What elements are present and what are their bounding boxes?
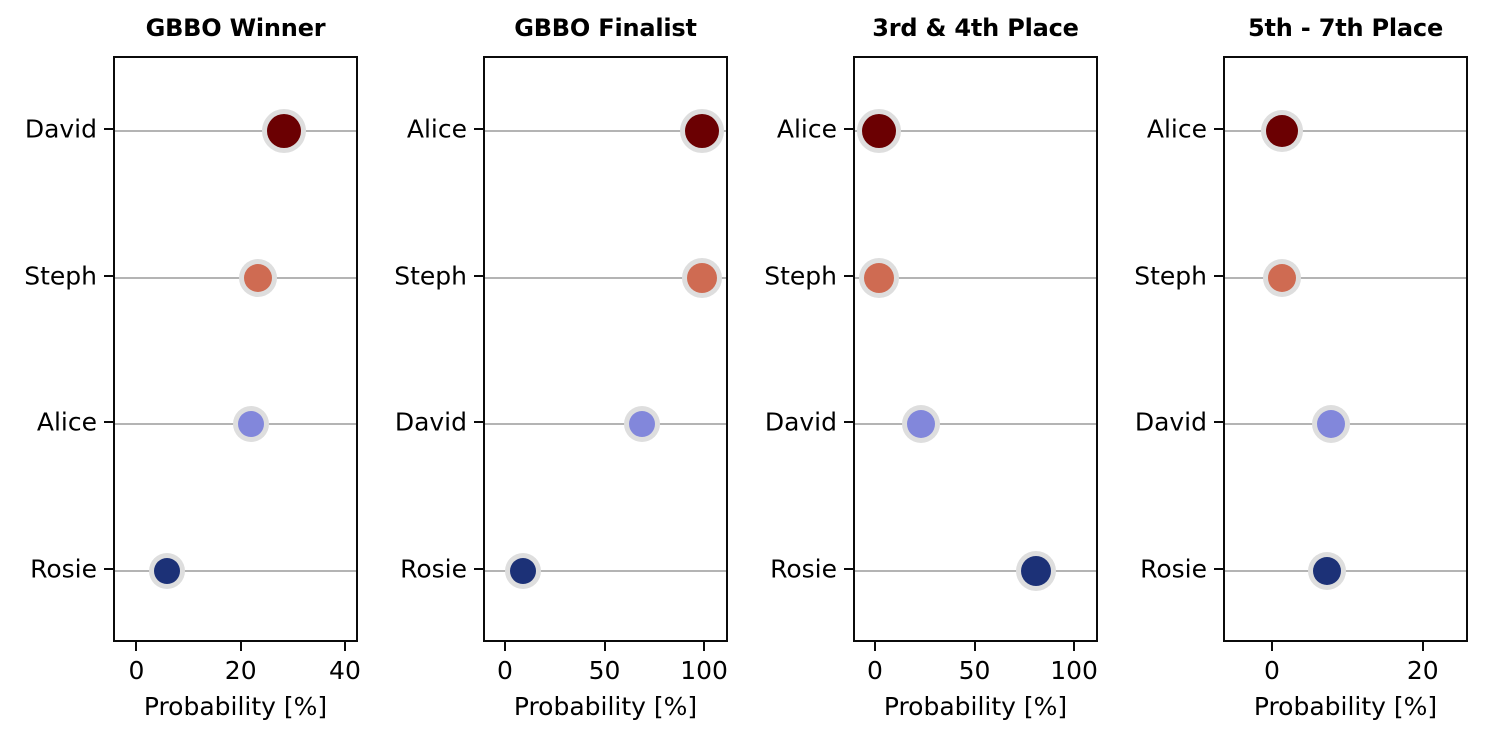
chart-panel: GBBO FinalistAliceStephDavidRosie050100P… bbox=[370, 0, 745, 750]
y-tick-label: David bbox=[395, 408, 467, 437]
gridline bbox=[485, 423, 726, 425]
data-point-marker bbox=[1313, 557, 1341, 585]
x-tick-label: 0 bbox=[867, 656, 883, 685]
plot-area bbox=[483, 56, 728, 642]
chart-panel: 3rd & 4th PlaceAliceStephDavidRosie05010… bbox=[740, 0, 1115, 750]
x-tick-mark bbox=[1271, 642, 1273, 651]
panel-title: GBBO Finalist bbox=[483, 14, 728, 42]
y-tick-label: Steph bbox=[764, 261, 837, 290]
x-tick-mark bbox=[703, 642, 705, 651]
y-tick-mark bbox=[474, 421, 483, 423]
plot-area bbox=[1223, 56, 1468, 642]
y-tick-label: David bbox=[25, 115, 97, 144]
y-tick-mark bbox=[1214, 128, 1223, 130]
y-tick-mark bbox=[844, 275, 853, 277]
y-tick-mark bbox=[474, 128, 483, 130]
x-tick-label: 50 bbox=[589, 656, 621, 685]
x-tick-mark bbox=[240, 642, 242, 651]
data-point-marker bbox=[238, 411, 264, 437]
gridline bbox=[1225, 277, 1466, 279]
data-point-marker bbox=[1268, 264, 1296, 292]
plot-area bbox=[853, 56, 1098, 642]
data-point-marker bbox=[907, 410, 935, 438]
y-tick-mark bbox=[1214, 421, 1223, 423]
y-tick-mark bbox=[1214, 568, 1223, 570]
data-point-marker bbox=[1317, 410, 1345, 438]
x-tick-label: 20 bbox=[1407, 656, 1439, 685]
y-tick-label: Alice bbox=[37, 408, 97, 437]
y-tick-mark bbox=[844, 421, 853, 423]
x-tick-mark bbox=[874, 642, 876, 651]
y-tick-label: David bbox=[765, 408, 837, 437]
x-tick-label: 50 bbox=[959, 656, 991, 685]
y-tick-label: Rosie bbox=[770, 554, 837, 583]
x-tick-mark bbox=[1422, 642, 1424, 651]
panel-title: 5th - 7th Place bbox=[1223, 14, 1468, 42]
data-point-marker bbox=[510, 558, 536, 584]
y-tick-label: Steph bbox=[24, 261, 97, 290]
x-axis-label: Probability [%] bbox=[483, 692, 728, 721]
chart-panel: 5th - 7th PlaceAliceStephDavidRosie020Pr… bbox=[1110, 0, 1485, 750]
data-point-marker bbox=[685, 114, 719, 148]
data-point-marker bbox=[154, 558, 180, 584]
y-tick-mark bbox=[104, 568, 113, 570]
x-tick-mark bbox=[135, 642, 137, 651]
y-tick-mark bbox=[474, 275, 483, 277]
x-tick-label: 0 bbox=[129, 656, 145, 685]
x-tick-label: 20 bbox=[225, 656, 257, 685]
gridline bbox=[115, 423, 356, 425]
gridline bbox=[115, 277, 356, 279]
gridline bbox=[855, 570, 1096, 572]
y-tick-label: Alice bbox=[407, 115, 467, 144]
x-tick-label: 0 bbox=[1264, 656, 1280, 685]
x-tick-label: 100 bbox=[680, 656, 728, 685]
data-point-marker bbox=[864, 263, 894, 293]
y-tick-mark bbox=[104, 275, 113, 277]
y-tick-label: Alice bbox=[1147, 115, 1207, 144]
y-tick-label: Alice bbox=[777, 115, 837, 144]
gridline bbox=[1225, 570, 1466, 572]
x-tick-label: 0 bbox=[497, 656, 513, 685]
panel-title: GBBO Winner bbox=[113, 14, 358, 42]
y-tick-mark bbox=[1214, 275, 1223, 277]
x-tick-label: 100 bbox=[1050, 656, 1098, 685]
y-tick-label: Steph bbox=[1134, 261, 1207, 290]
gridline bbox=[115, 570, 356, 572]
x-tick-mark bbox=[604, 642, 606, 651]
gridline bbox=[1225, 423, 1466, 425]
y-tick-mark bbox=[844, 568, 853, 570]
y-tick-label: Rosie bbox=[30, 554, 97, 583]
x-tick-mark bbox=[504, 642, 506, 651]
data-point-marker bbox=[1021, 556, 1051, 586]
gridline bbox=[115, 130, 356, 132]
x-tick-mark bbox=[1073, 642, 1075, 651]
x-tick-mark bbox=[344, 642, 346, 651]
figure-canvas: GBBO WinnerDavidStephAliceRosie02040Prob… bbox=[0, 0, 1500, 750]
gridline bbox=[855, 423, 1096, 425]
y-tick-label: Rosie bbox=[1140, 554, 1207, 583]
gridline bbox=[1225, 130, 1466, 132]
y-tick-mark bbox=[474, 568, 483, 570]
data-point-marker bbox=[244, 264, 272, 292]
x-axis-label: Probability [%] bbox=[1223, 692, 1468, 721]
x-tick-mark bbox=[974, 642, 976, 651]
y-tick-mark bbox=[844, 128, 853, 130]
data-point-marker bbox=[629, 411, 655, 437]
x-axis-label: Probability [%] bbox=[113, 692, 358, 721]
data-point-marker bbox=[687, 263, 717, 293]
data-point-marker bbox=[267, 114, 301, 148]
plot-area bbox=[113, 56, 358, 642]
y-tick-label: David bbox=[1135, 408, 1207, 437]
chart-panel: GBBO WinnerDavidStephAliceRosie02040Prob… bbox=[0, 0, 375, 750]
x-tick-label: 40 bbox=[329, 656, 361, 685]
panel-title: 3rd & 4th Place bbox=[853, 14, 1098, 42]
y-tick-label: Steph bbox=[394, 261, 467, 290]
y-tick-mark bbox=[104, 421, 113, 423]
y-tick-mark bbox=[104, 128, 113, 130]
x-axis-label: Probability [%] bbox=[853, 692, 1098, 721]
data-point-marker bbox=[1266, 115, 1298, 147]
y-tick-label: Rosie bbox=[400, 554, 467, 583]
data-point-marker bbox=[862, 114, 896, 148]
